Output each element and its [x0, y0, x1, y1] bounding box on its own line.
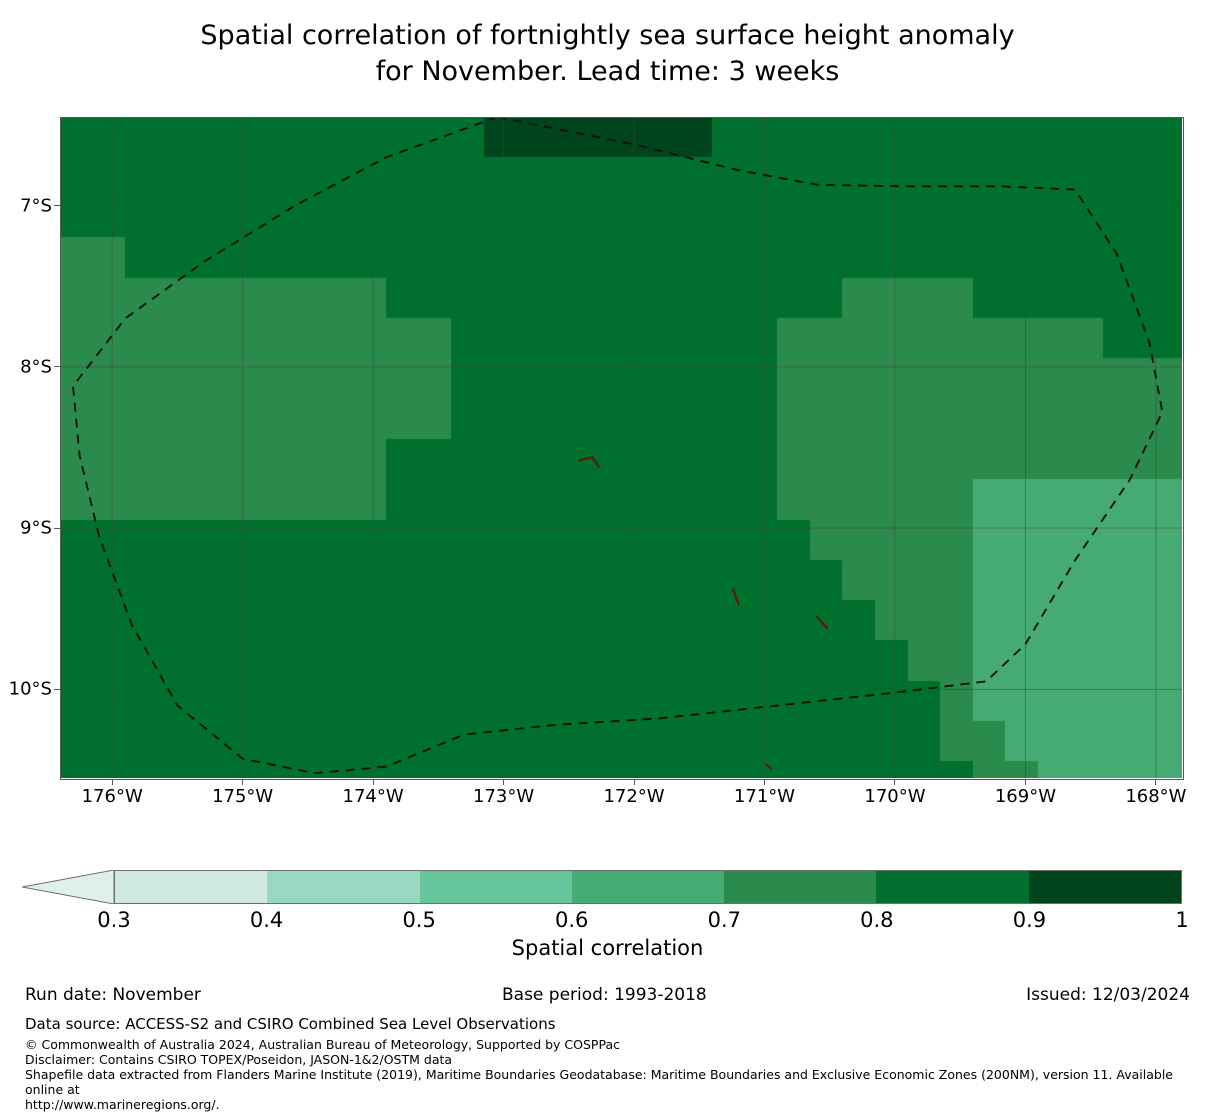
colorbar-tick-1: 0.4 — [250, 908, 283, 932]
xtick-label-2: 174°W — [343, 786, 404, 807]
colorbar-tick-7: 1 — [1175, 908, 1188, 932]
xtick-mark-0 — [112, 779, 113, 785]
footer-disclaimer: Disclaimer: Contains CSIRO TOPEX/Poseido… — [25, 1052, 1205, 1067]
colorbar-tick-0: 0.3 — [97, 908, 130, 932]
colorbar-band-6 — [1029, 871, 1181, 903]
issued-date-label: Issued: 12/03/2024 — [1026, 985, 1190, 1005]
xtick-label-5: 171°W — [734, 786, 795, 807]
heatmap-plot-area — [60, 117, 1182, 778]
metadata-row: Run date: November Base period: 1993-201… — [0, 985, 1215, 1009]
ytick-mark-0 — [54, 205, 60, 206]
footer-shapefile-url: http://www.marineregions.org/. — [25, 1097, 1205, 1112]
ytick-label-2: 9°S — [20, 518, 52, 539]
colorbar-tick-2: 0.5 — [402, 908, 435, 932]
colorbar-tick-6: 0.9 — [1013, 908, 1046, 932]
ytick-mark-2 — [54, 528, 60, 529]
xtick-mark-2 — [373, 779, 374, 785]
run-date-label: Run date: November — [25, 985, 201, 1005]
ytick-label-3: 10°S — [9, 679, 52, 700]
colorbar-band-3 — [572, 871, 724, 903]
colorbar-band-2 — [420, 871, 572, 903]
xtick-mark-8 — [1155, 779, 1156, 785]
footer-shapefile-credit: Shapefile data extracted from Flanders M… — [25, 1067, 1205, 1097]
footer-data-source: Data source: ACCESS-S2 and CSIRO Combine… — [25, 1014, 1205, 1034]
base-period-label: Base period: 1993-2018 — [502, 985, 707, 1005]
xtick-label-4: 172°W — [603, 786, 664, 807]
colorbar-band-5 — [876, 871, 1028, 903]
colorbar-band-1 — [267, 871, 419, 903]
xtick-label-3: 173°W — [473, 786, 534, 807]
xtick-label-1: 175°W — [212, 786, 273, 807]
colorbar-band-0 — [115, 871, 267, 903]
colorbar-bands — [114, 870, 1182, 904]
xtick-label-8: 168°W — [1125, 786, 1186, 807]
footer: Data source: ACCESS-S2 and CSIRO Combine… — [25, 1014, 1205, 1112]
map-overlay-layer — [60, 117, 1182, 778]
page-title: Spatial correlation of fortnightly sea s… — [0, 18, 1215, 90]
xtick-mark-7 — [1025, 779, 1026, 785]
ytick-mark-3 — [54, 689, 60, 690]
xtick-label-6: 170°W — [864, 786, 925, 807]
colorbar: 0.30.40.50.60.70.80.91 Spatial correlati… — [0, 864, 1215, 984]
colorbar-tick-3: 0.6 — [555, 908, 588, 932]
xtick-mark-3 — [503, 779, 504, 785]
ytick-label-0: 7°S — [20, 195, 52, 216]
xtick-label-7: 169°W — [995, 786, 1056, 807]
ytick-mark-1 — [54, 366, 60, 367]
xtick-mark-1 — [242, 779, 243, 785]
xtick-mark-6 — [894, 779, 895, 785]
colorbar-tick-4: 0.7 — [708, 908, 741, 932]
colorbar-band-4 — [724, 871, 876, 903]
xtick-mark-5 — [764, 779, 765, 785]
xtick-mark-4 — [634, 779, 635, 785]
colorbar-extend-low-arrow — [22, 870, 114, 904]
colorbar-tick-5: 0.8 — [860, 908, 893, 932]
ytick-label-1: 8°S — [20, 356, 52, 377]
colorbar-axis-label: Spatial correlation — [0, 936, 1215, 960]
footer-copyright: © Commonwealth of Australia 2024, Austra… — [25, 1037, 1205, 1052]
xtick-label-0: 176°W — [82, 786, 143, 807]
